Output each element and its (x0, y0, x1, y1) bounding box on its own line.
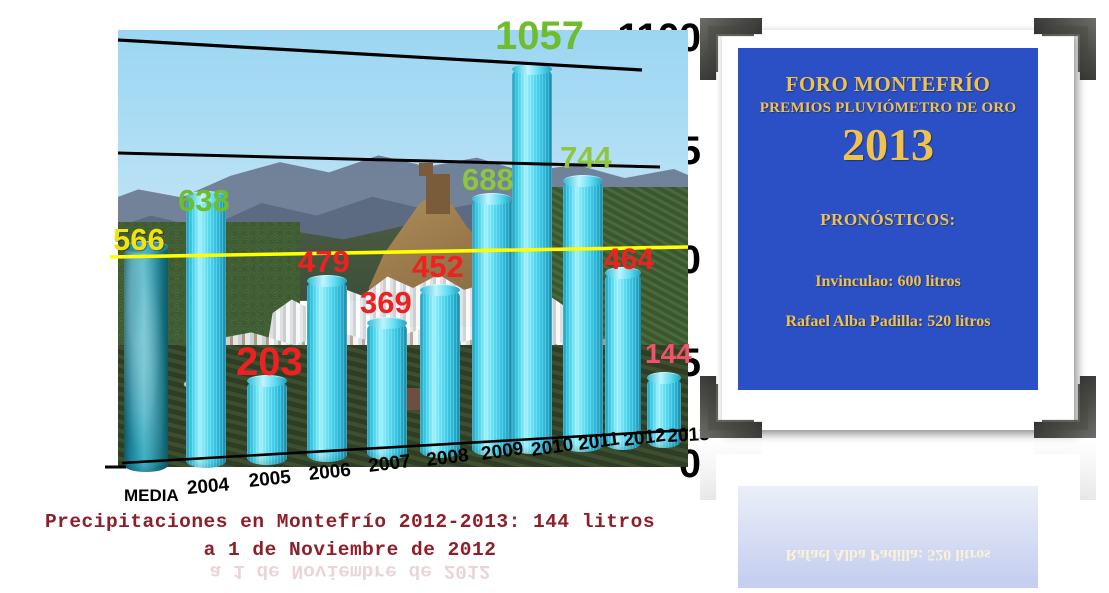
poster-frame: FORO MONTEFRÍO PREMIOS PLUVIÓMETRO DE OR… (700, 18, 1096, 438)
x-label-2004: 2004 (186, 474, 230, 500)
reflection-corner-bottom-right (1034, 438, 1096, 500)
rainfall-chart: 1100 825 550 275 0 (0, 0, 700, 593)
reflection-content: Rafael Alba Padilla: 520 litros (700, 438, 1096, 588)
poster-forecast-heading: PRONÓSTICOS: (738, 210, 1038, 230)
bar-2004[interactable] (186, 196, 226, 468)
corner-shape (700, 438, 762, 500)
bar-cap (512, 63, 552, 75)
poster-title: FORO MONTEFRÍO (738, 72, 1038, 97)
corner-inner (1042, 26, 1088, 72)
caption-line-1: Precipitaciones en Montefrío 2012-2013: … (0, 508, 700, 536)
photo-corner-bottom-left (700, 376, 762, 438)
bar-body (472, 198, 512, 456)
bar-2011[interactable] (563, 180, 603, 452)
bar-2012[interactable] (605, 272, 641, 450)
photo-castle (426, 174, 450, 213)
x-label-2005: 2005 (248, 467, 292, 493)
poster-forecast-2: Rafael Alba Padilla: 520 litros (738, 313, 1038, 331)
value-label-2004: 638 (178, 183, 230, 219)
value-label-2010: 1057 (495, 14, 584, 59)
corner-inner (708, 384, 754, 430)
bar-body (307, 280, 347, 462)
corner-inner (708, 26, 754, 72)
value-label-2013: 144 (645, 338, 692, 370)
corner-inner (1042, 384, 1088, 430)
value-label-media: 566 (113, 222, 165, 258)
photo-corner-top-left (700, 18, 762, 80)
slide-root: 1100 825 550 275 0 (0, 0, 1109, 593)
poster-board: FORO MONTEFRÍO PREMIOS PLUVIÓMETRO DE OR… (738, 48, 1038, 390)
poster-year: 2013 (738, 118, 1038, 171)
bar-body (367, 322, 407, 460)
chart-caption: Precipitaciones en Montefrío 2012-2013: … (0, 508, 700, 564)
bar-cap (647, 372, 681, 384)
x-label-2008: 2008 (425, 445, 470, 472)
reflection-corner-bottom-left (700, 438, 762, 500)
bar-2007[interactable] (367, 322, 407, 460)
reflection-forecast-2: Rafael Alba Padilla: 520 litros (738, 545, 1038, 563)
bar-2010[interactable] (512, 68, 552, 454)
poster-forecast-1: Invinculao: 600 litros (738, 273, 1038, 291)
value-label-2006: 479 (298, 244, 350, 280)
bar-media[interactable] (124, 246, 168, 472)
reflection-poster: Rafael Alba Padilla: 520 litros (738, 486, 1038, 588)
poster-reflection: Rafael Alba Padilla: 520 litros (700, 438, 1096, 588)
x-label-2006: 2006 (308, 460, 352, 486)
value-label-2008: 452 (412, 249, 464, 285)
bar-body (124, 246, 168, 472)
bar-cap (563, 175, 603, 187)
bar-body (186, 196, 226, 468)
photo-corner-bottom-right (1034, 376, 1096, 438)
bar-2006[interactable] (307, 280, 347, 462)
bar-2009[interactable] (472, 198, 512, 456)
bar-body (420, 289, 460, 458)
value-label-2012: 464 (604, 243, 654, 277)
value-label-2011: 744 (560, 140, 612, 176)
bar-body (512, 68, 552, 454)
poster-subtitle: PREMIOS PLUVIÓMETRO DE ORO (738, 100, 1038, 117)
bar-2008[interactable] (420, 289, 460, 458)
bar-body (605, 272, 641, 450)
corner-shape (1034, 438, 1096, 500)
caption-reflection: a 1 de Noviembre de 2012 (0, 560, 700, 582)
value-label-2005: 203 (236, 340, 303, 385)
bar-cap (420, 284, 460, 296)
value-label-2007: 369 (360, 285, 412, 321)
bar-body (247, 380, 287, 465)
photo-corner-top-right (1034, 18, 1096, 80)
bar-body (563, 180, 603, 452)
value-label-2009: 688 (462, 162, 514, 198)
x-label-media: MEDIA (124, 486, 179, 506)
bar-2005[interactable] (247, 380, 287, 465)
x-label-2007: 2007 (367, 451, 412, 478)
